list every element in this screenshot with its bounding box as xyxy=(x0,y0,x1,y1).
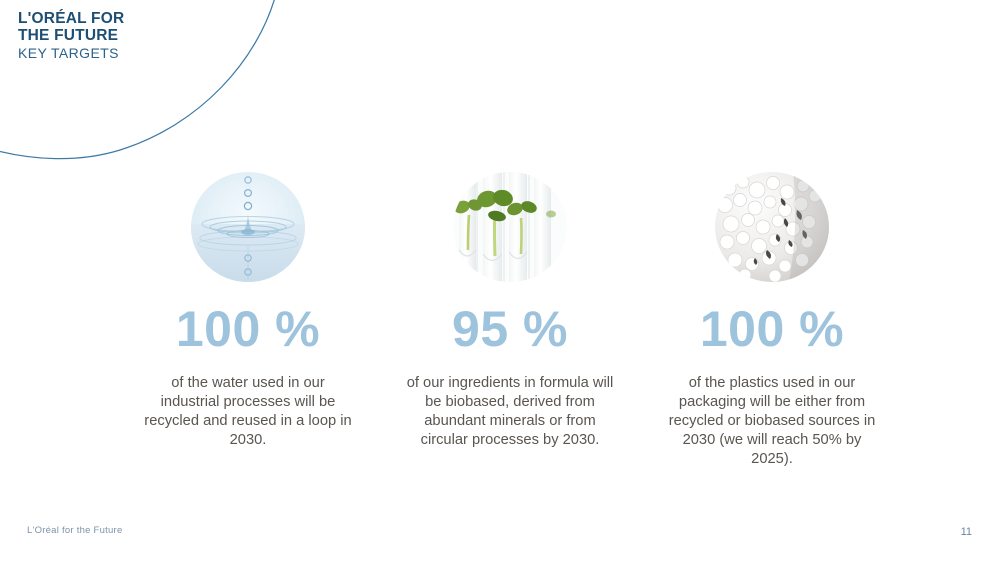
target-column-plastics: 100 % of the plastics used in our packag… xyxy=(654,172,890,470)
target-column-ingredients: 95 % of our ingredients in formula will … xyxy=(392,172,628,450)
stat-caption-ingredients: of our ingredients in formula will be bi… xyxy=(405,374,615,450)
slide-canvas: L'ORÉAL FOR THE FUTURE KEY TARGETS xyxy=(0,0,1000,561)
footer-label: L'Oréal for the Future xyxy=(27,525,123,536)
title-line-2: THE FUTURE xyxy=(18,27,124,44)
seedlings-in-test-tubes-photo xyxy=(453,172,567,282)
stat-caption-plastics: of the plastics used in our packaging wi… xyxy=(667,374,877,470)
water-droplet-ripple-photo xyxy=(191,172,305,282)
stat-caption-water: of the water used in our industrial proc… xyxy=(143,374,353,450)
title-line-1: L'ORÉAL FOR xyxy=(18,10,124,27)
plastic-pellets-photo xyxy=(715,172,829,282)
target-column-water: 100 % of the water used in our industria… xyxy=(130,172,366,450)
key-targets-columns: 100 % of the water used in our industria… xyxy=(130,172,890,470)
stat-value-water: 100 % xyxy=(176,304,320,354)
stat-value-plastics: 100 % xyxy=(700,304,844,354)
slide-title: L'ORÉAL FOR THE FUTURE KEY TARGETS xyxy=(18,10,124,61)
subtitle-key-targets: KEY TARGETS xyxy=(18,46,124,62)
page-number: 11 xyxy=(961,526,972,538)
stat-value-ingredients: 95 % xyxy=(452,304,568,354)
